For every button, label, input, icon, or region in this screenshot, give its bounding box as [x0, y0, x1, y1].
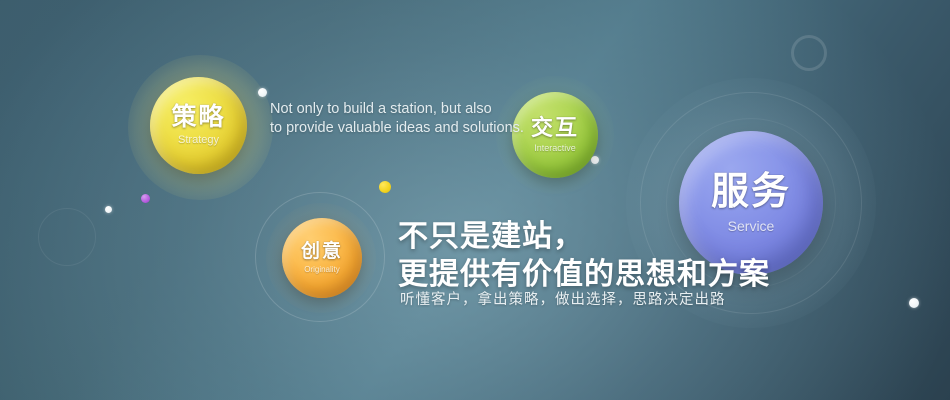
- sphere-interactive[interactable]: 交互 Interactive: [512, 92, 598, 178]
- decorative-ring-left: [38, 208, 96, 266]
- sphere-originality-cn-label: 创意: [301, 242, 343, 261]
- subheadline: 听懂客户，拿出策略，做出选择，思路决定出路: [400, 288, 726, 309]
- sphere-strategy[interactable]: 策略 Strategy: [150, 77, 247, 174]
- intro-english-text: Not only to build a station, but also to…: [270, 100, 520, 138]
- intro-english-line-1: Not only to build a station, but also: [270, 100, 520, 119]
- decorative-dot-white-1: [258, 88, 267, 97]
- sphere-interactive-cn-label: 交互: [531, 117, 579, 139]
- sphere-strategy-cn-label: 策略: [171, 105, 225, 130]
- sphere-originality-en-label: Originality: [304, 266, 340, 274]
- decorative-dot-white-2: [591, 156, 599, 164]
- headline: 不只是建站， 更提供有价值的思想和方案: [398, 218, 770, 294]
- sphere-interactive-en-label: Interactive: [534, 144, 576, 153]
- sphere-strategy-en-label: Strategy: [178, 135, 219, 146]
- sphere-originality[interactable]: 创意 Originality: [282, 218, 362, 298]
- decorative-dot-white-3: [105, 206, 112, 213]
- decorative-dot-yellow: [379, 181, 391, 193]
- decorative-dot-purple: [141, 194, 150, 203]
- intro-english-line-2: to provide valuable ideas and solutions.: [270, 119, 520, 138]
- decorative-dot-white-4: [909, 298, 919, 308]
- hero-banner: 策略 Strategy 交互 Interactive 创意 Originalit…: [0, 0, 950, 400]
- headline-line-1: 不只是建站，: [398, 218, 770, 256]
- decorative-ring-top-right: [791, 35, 827, 71]
- sphere-service-cn-label: 服务: [711, 173, 791, 211]
